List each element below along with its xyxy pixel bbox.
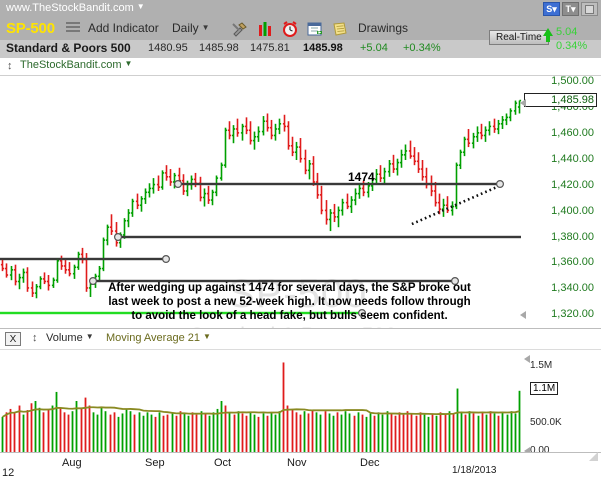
volume-tick-label: 500.0K <box>530 417 562 428</box>
disk-icon <box>585 5 594 14</box>
calendar-add-icon[interactable] <box>306 20 324 38</box>
volume-tick-label: 1.5M <box>530 360 552 371</box>
company-name: Standard & Poors 500 <box>6 41 131 55</box>
timeframe-selector[interactable]: Daily▼ <box>172 21 210 35</box>
price-axis-pointer-icon <box>520 311 526 319</box>
annotation-line-1: After wedging up against 1474 for severa… <box>62 281 517 295</box>
current-volume-marker: 1.1M <box>530 382 558 395</box>
symbol-label[interactable]: SP-500 <box>6 20 55 37</box>
chevron-down-icon[interactable]: ▼ <box>203 332 211 341</box>
date-tick-year: 12 <box>2 467 14 479</box>
resize-corner-icon[interactable] <box>589 452 598 461</box>
price-tick-label: 1,320.00 <box>524 308 594 320</box>
tools-icon[interactable] <box>231 20 249 38</box>
price-tick-label: 1,500.00 <box>524 75 594 87</box>
close-volume-button[interactable]: X <box>5 332 21 346</box>
trendline-handle[interactable] <box>163 256 170 263</box>
price-tick-label: 1,360.00 <box>524 256 594 268</box>
price-tick-label: 1,460.00 <box>524 127 594 139</box>
chevron-down-icon[interactable]: ▼ <box>125 59 133 68</box>
overlay-label[interactable]: TheStockBandit.com▼ <box>20 59 132 71</box>
trendline-breakout-dotted-top[interactable] <box>412 187 497 224</box>
date-tick-label: Dec <box>360 457 380 469</box>
price-tick-label: 1,380.00 <box>524 231 594 243</box>
date-axis[interactable]: 12AugSepOctNovDec1/18/2013 <box>0 452 601 482</box>
chevron-down-icon[interactable]: ▼ <box>137 2 145 11</box>
bar-chart-icon[interactable] <box>256 20 274 38</box>
badge-change: 5.04 <box>556 26 577 38</box>
ohlc-bars <box>1 101 521 299</box>
quote-high: 1485.98 <box>199 42 239 54</box>
trendline-breakout-dotted[interactable] <box>412 187 497 224</box>
drag-handle-icon[interactable]: ↕ <box>7 60 13 72</box>
quote-open: 1480.95 <box>148 42 188 54</box>
resistance-price-label: 1474 <box>348 170 375 184</box>
notepad-icon[interactable] <box>331 20 349 38</box>
annotation-line-3: to avoid the look of a head fake, but bu… <box>62 309 517 323</box>
title-bar: www.TheStockBandit.com▼ S▾ T▾ <box>0 0 601 18</box>
chevron-down-icon[interactable]: ▼ <box>86 332 94 341</box>
site-link[interactable]: www.TheStockBandit.com▼ <box>6 2 145 14</box>
date-tick-label: Aug <box>62 457 82 469</box>
save-button[interactable] <box>581 2 598 16</box>
price-tick-label: 1,420.00 <box>524 179 594 191</box>
window-buttons: S▾ T▾ <box>543 2 598 16</box>
price-axis-pointer-icon <box>520 99 526 107</box>
real-time-button[interactable]: Real-Time <box>489 30 549 45</box>
add-indicator-button[interactable]: Add Indicator <box>88 21 159 35</box>
price-axis[interactable]: 1,500.001,480.001,460.001,440.001,420.00… <box>524 76 601 328</box>
chevron-down-icon[interactable]: ▼ <box>202 23 210 32</box>
annotation-line-2: last week to post a new 52-week high. It… <box>62 295 517 309</box>
trendline-handle[interactable] <box>497 181 504 188</box>
volume-plot <box>0 350 601 452</box>
volume-moving-average-line <box>3 407 520 417</box>
stock-chart-application: www.TheStockBandit.com▼ S▾ T▾ SP-500 Add… <box>0 0 601 482</box>
overlay-bar: ↕ TheStockBandit.com▼ <box>0 58 601 76</box>
date-tick-current: 1/18/2013 <box>452 465 497 476</box>
volume-axis-pointer-icon <box>524 355 530 363</box>
date-tick-label: Nov <box>287 457 307 469</box>
up-arrow-stem-icon <box>546 35 550 42</box>
volume-bars <box>3 362 520 452</box>
quote-change: +5.04 <box>360 42 388 54</box>
chart-annotation: After wedging up against 1474 for severa… <box>62 281 517 323</box>
trendline-handle[interactable] <box>175 181 182 188</box>
quote-change-percent: +0.34% <box>403 42 441 54</box>
price-tick-label: 1,400.00 <box>524 205 594 217</box>
price-tick-label: 1,440.00 <box>524 153 594 165</box>
style-button[interactable]: S▾ <box>543 2 560 16</box>
date-tick-label: Oct <box>214 457 231 469</box>
volume-drag-handle-icon[interactable]: ↕ <box>32 332 38 344</box>
volume-panel-header: X ↕ Volume▼ Moving Average 21▼ <box>0 328 601 350</box>
quote-low: 1475.81 <box>250 42 290 54</box>
volume-axis[interactable]: 1.5M500.0K0.001.1M <box>524 350 601 452</box>
volume-moving-average-label[interactable]: Moving Average 21▼ <box>106 332 211 344</box>
volume-chart-panel[interactable] <box>0 350 601 452</box>
trendline-handle[interactable] <box>115 234 122 241</box>
price-tick-label: 1,340.00 <box>524 282 594 294</box>
quote-last: 1485.98 <box>303 42 343 54</box>
current-price-marker: 1,485.98 <box>524 93 597 107</box>
date-tick-label: Sep <box>145 457 165 469</box>
template-button[interactable]: T▾ <box>562 2 579 16</box>
menu-grip-icon[interactable] <box>66 22 80 35</box>
badge-change-percent: 0.34% <box>556 40 587 52</box>
alarm-clock-icon[interactable] <box>281 20 299 38</box>
drawings-button[interactable]: Drawings <box>358 21 408 35</box>
volume-label[interactable]: Volume▼ <box>46 332 94 344</box>
